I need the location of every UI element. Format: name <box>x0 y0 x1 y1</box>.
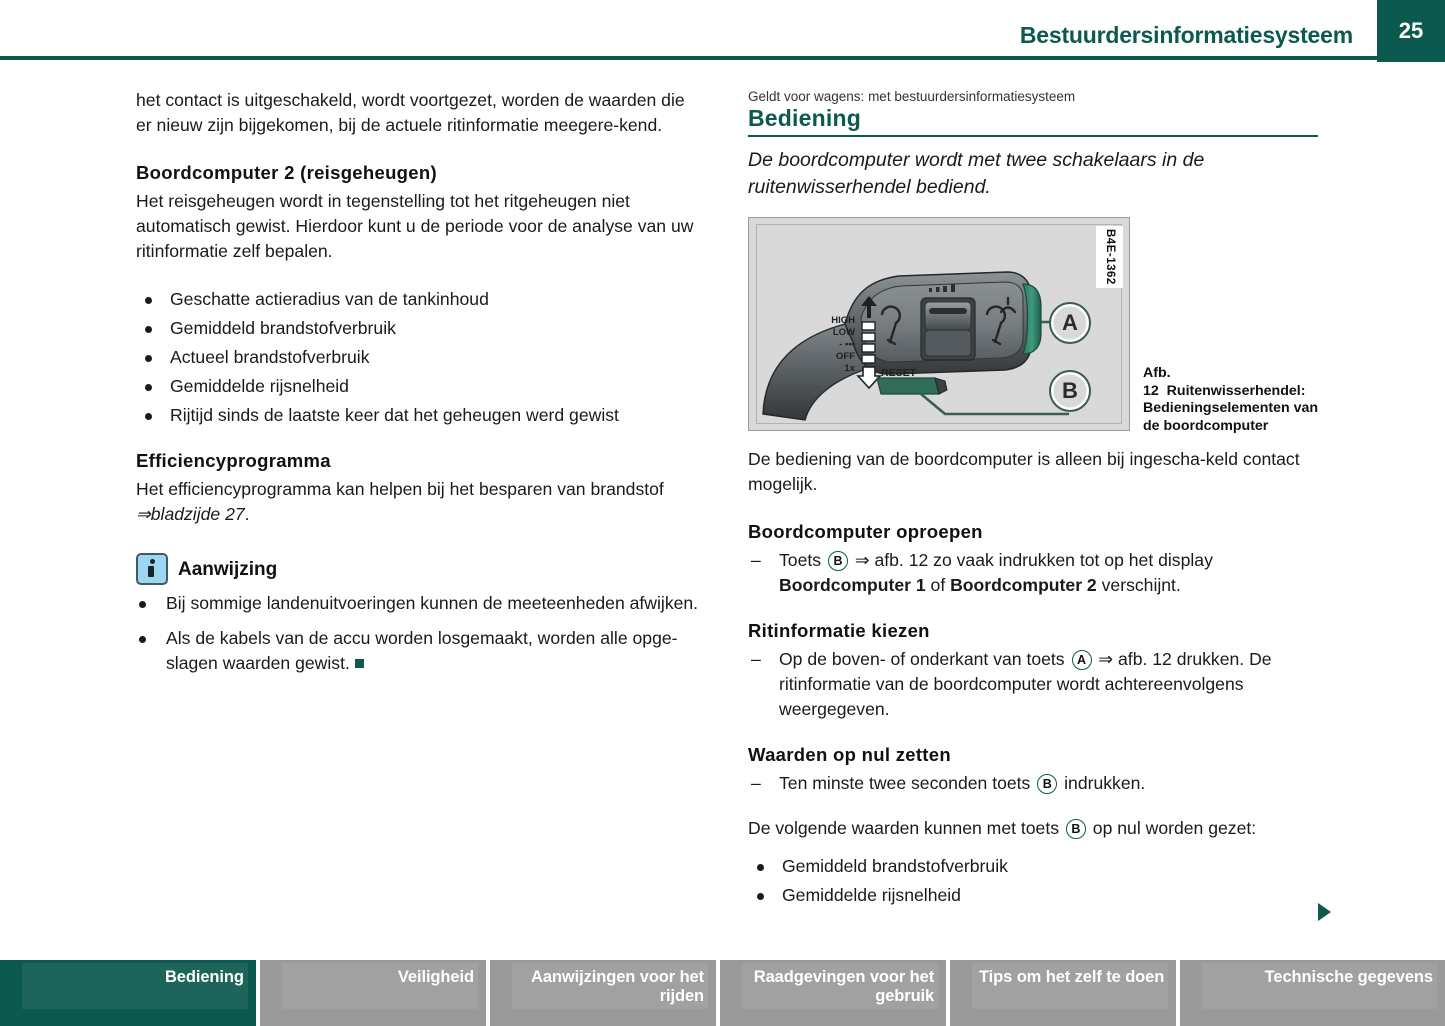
footer-tab-label: Veiligheid <box>270 968 474 987</box>
left-column: het contact is uitgeschakeld, wordt voor… <box>136 88 701 686</box>
label-intermittent: - ••• <box>839 339 855 350</box>
label-low: LOW <box>833 327 855 338</box>
list-item: Actueel brandstofverbruik <box>136 344 701 370</box>
label-1x: 1x <box>844 363 855 374</box>
ref-circle-b: B <box>1037 774 1057 794</box>
page-title: Bestuurdersinformatiesysteem <box>1020 22 1353 49</box>
footer-nav: Bediening Veiligheid Aanwijzingen voor h… <box>0 960 1445 1026</box>
list-item: Gemiddelde rijsnelheid <box>136 373 701 399</box>
page-number: 25 <box>1377 0 1445 62</box>
display-text-2: Boordcomputer 2 <box>950 575 1097 595</box>
continue-arrow-icon <box>1318 903 1331 921</box>
footer-tab-label: Technische gegevens <box>1190 968 1433 987</box>
footer-tab-label: Bediening <box>10 968 244 987</box>
note-title: Aanwijzing <box>178 557 277 582</box>
heading-waarden-op-nul-zetten: Waarden op nul zetten <box>748 742 1318 767</box>
reset-intro-post: op nul worden gezet: <box>1088 818 1256 838</box>
heading-efficiencyprogramma: Efficiencyprogramma <box>136 448 701 473</box>
display-text-1: Boordcomputer 1 <box>779 575 926 595</box>
list-item: Gemiddeld brandstofverbruik <box>136 315 701 341</box>
page-header: Bestuurdersinformatiesysteem 25 <box>0 0 1445 62</box>
list-item: Gemiddelde rijsnelheid <box>748 882 1318 908</box>
efficiency-text-end: . <box>245 504 250 524</box>
footer-tab-bediening[interactable]: Bediening <box>0 960 256 1026</box>
heading-ritinformatie-kiezen: Ritinformatie kiezen <box>748 618 1318 643</box>
heading-boordcomputer-oproepen: Boordcomputer oproepen <box>748 519 1318 544</box>
boordcomputer-2-paragraph: Het reisgeheugen wordt in tegenstelling … <box>136 189 701 264</box>
note-list: Bij sommige landenuitvoeringen kunnen de… <box>136 591 701 676</box>
list-item: Gemiddeld brandstofverbruik <box>748 853 1318 879</box>
right-column: Geldt voor wagens: met bestuurdersinform… <box>748 88 1318 928</box>
end-of-section-marker-icon <box>355 659 364 668</box>
conjunction: of <box>926 575 950 595</box>
step-text-end: indrukken. <box>1059 773 1145 793</box>
footer-tab-tips-om-het-zelf-te-doen[interactable]: Tips om het zelf te doen <box>950 960 1176 1026</box>
efficiencyprogramma-paragraph: Het efficiencyprogramma kan helpen bij h… <box>136 477 701 527</box>
cross-reference-link[interactable]: bladzijde 27 <box>151 504 245 524</box>
figure-code: B4E-1362 <box>1096 226 1123 288</box>
footer-tab-veiligheid[interactable]: Veiligheid <box>260 960 486 1026</box>
list-item: Ten minste twee seconden toets B indrukk… <box>748 771 1318 796</box>
efficiency-text: Het efficiencyprogramma kan helpen bij h… <box>136 479 664 499</box>
ritinformatie-kiezen-list: Op de boven- of onderkant van toets A ⇒ … <box>748 647 1318 722</box>
operation-paragraph: De bediening van de boordcomputer is all… <box>748 447 1318 497</box>
boordcomputer-2-list: Geschatte actieradius van de tankinhoud … <box>136 286 701 428</box>
lead-paragraph: De boordcomputer wordt met twee schakela… <box>748 147 1318 201</box>
ref-circle-b: B <box>828 551 848 571</box>
ref-circle-a: A <box>1072 650 1092 670</box>
step-text-mid: ⇒ afb. 12 zo vaak indrukken tot op het d… <box>850 550 1213 570</box>
list-item: Op de boven- of onderkant van toets A ⇒ … <box>748 647 1318 722</box>
figure-caption: Afb. 12 Ruitenwisserhendel: Bedieningsel… <box>1143 365 1321 435</box>
footer-tab-aanwijzingen-voor-het-rijden[interactable]: Aanwijzingen voor het rijden <box>490 960 716 1026</box>
note-header: Aanwijzing <box>136 553 701 585</box>
step-text-end: verschijnt. <box>1097 575 1181 595</box>
list-item: Als de kabels van de accu worden losgema… <box>136 626 701 676</box>
footer-tab-technische-gegevens[interactable]: Technische gegevens <box>1180 960 1445 1026</box>
footer-tab-label: Raadgevingen voor het gebruik <box>730 968 934 1006</box>
note-text: Als de kabels van de accu worden losgema… <box>166 628 678 673</box>
header-divider <box>0 56 1445 60</box>
heading-boordcomputer-2: Boordcomputer 2 (reisgeheugen) <box>136 160 701 185</box>
footer-tab-label: Tips om het zelf te doen <box>960 968 1164 987</box>
boordcomputer-oproepen-list: Toets B ⇒ afb. 12 zo vaak indrukken tot … <box>748 548 1318 598</box>
applicability-note: Geldt voor wagens: met bestuurdersinform… <box>748 88 1318 105</box>
figure-caption-text: Ruitenwisserhendel: Bedieningselementen … <box>1143 383 1318 434</box>
cross-reference-arrow-icon: ⇒ <box>136 504 151 524</box>
reset-values-list: Gemiddeld brandstofverbruik Gemiddelde r… <box>748 853 1318 908</box>
footer-tab-label: Aanwijzingen voor het rijden <box>500 968 704 1006</box>
list-item: Geschatte actieradius van de tankinhoud <box>136 286 701 312</box>
footer-tab-raadgevingen-voor-het-gebruik[interactable]: Raadgevingen voor het gebruik <box>720 960 946 1026</box>
label-off: OFF <box>836 351 855 362</box>
label-high: HIGH <box>831 315 855 326</box>
intro-paragraph: het contact is uitgeschakeld, wordt voor… <box>136 88 701 138</box>
reset-intro-paragraph: De volgende waarden kunnen met toets B o… <box>748 816 1318 841</box>
figure-marker-a: A <box>1049 302 1091 344</box>
step-text: Toets <box>779 550 826 570</box>
list-item: Toets B ⇒ afb. 12 zo vaak indrukken tot … <box>748 548 1318 598</box>
step-text: Ten minste twee seconden toets <box>779 773 1035 793</box>
figure-marker-b: B <box>1049 370 1091 412</box>
heading-bediening: Bediening <box>748 106 1318 137</box>
reset-intro-pre: De volgende waarden kunnen met toets <box>748 818 1064 838</box>
figure-image: HIGH LOW - ••• OFF 1x RESET <box>748 217 1130 431</box>
label-reset: RESET <box>881 367 917 379</box>
list-item: Bij sommige landenuitvoeringen kunnen de… <box>136 591 701 616</box>
figure-12: HIGH LOW - ••• OFF 1x RESET <box>748 217 1318 433</box>
waarden-op-nul-zetten-list: Ten minste twee seconden toets B indrukk… <box>748 771 1318 796</box>
step-text: Op de boven- of onderkant van toets <box>779 649 1070 669</box>
ref-circle-b: B <box>1066 819 1086 839</box>
info-icon <box>136 553 168 585</box>
list-item: Rijtijd sinds de laatste keer dat het ge… <box>136 402 701 428</box>
